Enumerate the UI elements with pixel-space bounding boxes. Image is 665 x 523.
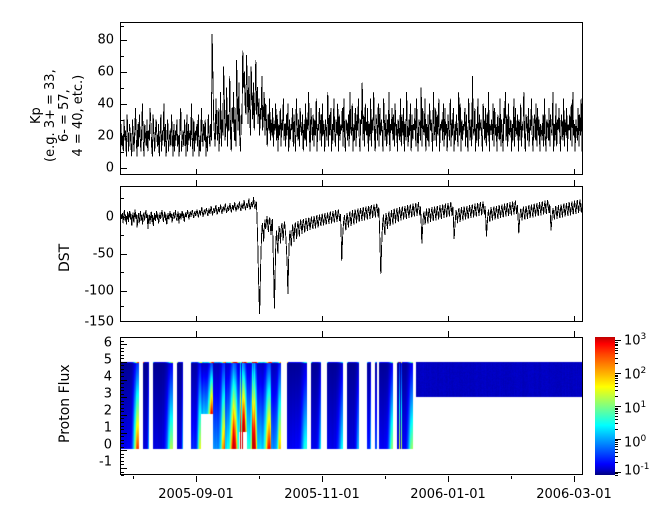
- colorbar-tick-minor: [615, 429, 618, 430]
- colorbar-tick-major: [615, 373, 621, 374]
- flux-xtick-major: [448, 331, 449, 337]
- kp-axis-title-line4: 4 = 40, etc.): [72, 69, 86, 162]
- colorbar-exp: 3: [641, 332, 647, 342]
- xtick-label-2006-03-01: 2006-03-01: [536, 488, 612, 501]
- colorbar-label-1em1: 10-1 10-1: [624, 465, 650, 478]
- colorbar-tick-minor: [615, 440, 618, 441]
- flux-ytick-minor: [121, 436, 124, 437]
- kp-xtick-major: [448, 169, 449, 175]
- flux-ytick-major: [121, 397, 127, 398]
- kp-xtick-major: [322, 169, 323, 175]
- kp-ytick-major: [121, 136, 127, 137]
- colorbar-tick-minor: [615, 342, 618, 343]
- flux-ytick-minor: [121, 401, 124, 402]
- colorbar-tick-minor: [615, 442, 618, 443]
- flux-ytick-minor: [121, 365, 124, 366]
- colorbar-tick-minor: [615, 350, 618, 351]
- colorbar-label-1e2: 102 102: [624, 369, 646, 382]
- figure-canvas: Kp (e.g. 3+ = 33, 6- = 57, 4 = 40, etc.)…: [0, 0, 665, 523]
- colorbar-tick-minor: [615, 383, 618, 384]
- colorbar-tick-minor: [615, 348, 618, 349]
- flux-ytick-minor: [121, 461, 124, 462]
- colorbar-exp: -1: [641, 462, 650, 472]
- kp-ytick-major: [121, 40, 127, 41]
- colorbar-base: 10: [624, 334, 641, 349]
- colorbar-base: 10: [624, 402, 641, 417]
- flux-ytick-minor: [121, 390, 124, 391]
- flux-ytick-minor: [121, 443, 124, 444]
- flux-xtick-major-bottom: [448, 476, 449, 482]
- dst-plot-panel: [120, 186, 583, 322]
- flux-ytick-label-4: 4: [84, 371, 112, 384]
- flux-xtick-minor-bottom: [259, 476, 260, 479]
- flux-ytick-minor: [121, 387, 124, 388]
- flux-ytick-minor: [121, 440, 124, 441]
- colorbar-tick-minor: [615, 363, 618, 364]
- flux-ytick-minor: [121, 404, 124, 405]
- colorbar-tick-minor: [615, 456, 618, 457]
- colorbar-tick-minor: [615, 378, 618, 379]
- flux-ytick-minor: [121, 369, 124, 370]
- flux-ytick-minor: [121, 348, 124, 349]
- colorbar-tick-minor: [615, 423, 618, 424]
- flux-ytick-major: [121, 380, 127, 381]
- colorbar-base: 10: [624, 464, 641, 479]
- kp-ytick-label-80: 80: [88, 34, 114, 47]
- colorbar-base: 10: [624, 368, 641, 383]
- colorbar-exp: 0: [641, 434, 647, 444]
- kp-ytick-label-40: 40: [88, 98, 114, 111]
- colorbar-tick-minor: [615, 386, 618, 387]
- colorbar-label-1e1: 101 101: [624, 403, 646, 416]
- colorbar-tick-major: [615, 439, 621, 440]
- flux-ytick-minor: [121, 372, 124, 373]
- colorbar-tick-minor: [615, 345, 618, 346]
- flux-xtick-major-bottom: [196, 476, 197, 482]
- colorbar-tick-minor: [615, 419, 618, 420]
- colorbar-tick-minor: [615, 353, 618, 354]
- dst-ytick-label-0: 0: [70, 211, 114, 224]
- colorbar-tick-minor: [615, 396, 618, 397]
- colorbar-tick-minor: [615, 375, 618, 376]
- colorbar-tick-minor: [615, 408, 618, 409]
- flux-ytick-major: [121, 468, 127, 469]
- flux-ytick-minor: [121, 418, 124, 419]
- dst-xtick-major: [574, 316, 575, 322]
- kp-ytick-label-20: 20: [88, 130, 114, 143]
- flux-ytick-label-3: 3: [84, 388, 112, 401]
- flux-ytick-major: [121, 362, 127, 363]
- flux-ytick-minor: [121, 454, 124, 455]
- xtick-label-2005-11-01: 2005-11-01: [284, 488, 360, 501]
- dst-ytick-minor: [121, 235, 124, 236]
- colorbar-tick-minor: [615, 411, 618, 412]
- colorbar-tick-minor: [615, 475, 618, 476]
- flux-ytick-minor: [121, 472, 124, 473]
- colorbar-tick-minor: [615, 452, 618, 453]
- colorbar-tick-minor: [615, 358, 618, 359]
- kp-xtick-major: [196, 169, 197, 175]
- flux-ytick-minor: [121, 447, 124, 448]
- dst-xtick-major: [574, 180, 575, 186]
- dst-ytick-minor: [121, 306, 124, 307]
- colorbar-tick-minor: [615, 462, 618, 463]
- kp-ytick-minor: [121, 56, 124, 57]
- colorbar-tick-major: [615, 340, 621, 341]
- flux-ytick-minor: [121, 422, 124, 423]
- kp-ytick-major: [121, 104, 127, 105]
- flux-ytick-minor: [121, 351, 124, 352]
- dst-ytick-label-m100: -100: [70, 285, 114, 298]
- colorbar-tick-minor: [615, 446, 618, 447]
- dst-xtick-major: [448, 316, 449, 322]
- colorbar-tick-minor: [615, 390, 618, 391]
- colorbar-label-1e0: 100 100: [624, 437, 646, 450]
- kp-plot-panel: [120, 22, 583, 175]
- colorbar-tick-minor: [615, 473, 618, 474]
- colorbar-tick-minor: [615, 380, 618, 381]
- dst-xtick-major: [196, 180, 197, 186]
- flux-xtick-major-bottom: [574, 476, 575, 482]
- kp-ytick-minor: [121, 26, 124, 27]
- flux-xtick-major-bottom: [322, 476, 323, 482]
- flux-ytick-minor: [121, 464, 124, 465]
- dst-ytick-major: [121, 254, 127, 255]
- kp-ytick-label-0: 0: [88, 162, 114, 175]
- kp-axis-title-line2: (e.g. 3+ = 33,: [44, 69, 58, 162]
- colorbar-tick-minor: [615, 376, 618, 377]
- flux-ytick-label-0: 0: [84, 439, 112, 452]
- proton-flux-plot-panel: [120, 337, 583, 475]
- colorbar-tick-minor: [615, 344, 618, 345]
- kp-ytick-major: [121, 72, 127, 73]
- dst-ytick-major: [121, 291, 127, 292]
- kp-ytick-minor: [121, 152, 124, 153]
- flux-xtick-minor-bottom: [511, 476, 512, 479]
- flux-ytick-minor: [121, 475, 124, 476]
- flux-ytick-minor: [121, 394, 124, 395]
- colorbar: [595, 337, 615, 475]
- colorbar-tick-minor: [615, 409, 618, 410]
- colorbar-exp: 2: [641, 366, 647, 376]
- dst-ytick-label-m50: -50: [70, 248, 114, 261]
- flux-ytick-minor: [121, 355, 124, 356]
- flux-ytick-minor: [121, 383, 124, 384]
- dst-ytick-major: [121, 321, 127, 322]
- flux-xtick-minor-bottom: [385, 476, 386, 479]
- flux-ytick-label-6: 6: [84, 337, 112, 350]
- flux-ytick-major: [121, 433, 127, 434]
- flux-xtick-minor-bottom: [133, 476, 134, 479]
- xtick-label-2005-09-01: 2005-09-01: [158, 488, 234, 501]
- proton-flux-axis-title: Proton Flux: [58, 364, 73, 443]
- flux-ytick-major: [121, 415, 127, 416]
- flux-xtick-major: [196, 331, 197, 337]
- flux-ytick-minor: [121, 411, 124, 412]
- flux-ytick-minor: [121, 337, 124, 338]
- flux-ytick-minor: [121, 376, 124, 377]
- flux-ytick-minor: [121, 341, 124, 342]
- dst-ytick-label-m150: -150: [70, 316, 114, 329]
- proton-flux-heatmap: [121, 338, 582, 474]
- colorbar-tick-minor: [615, 413, 618, 414]
- flux-ytick-major: [121, 344, 127, 345]
- colorbar-tick-minor: [615, 449, 618, 450]
- dst-xtick-major: [322, 316, 323, 322]
- kp-ytick-minor: [121, 88, 124, 89]
- colorbar-base: 10: [624, 436, 641, 451]
- flux-ytick-minor: [121, 358, 124, 359]
- kp-ytick-label-60: 60: [88, 66, 114, 79]
- flux-ytick-label-m1: -1: [84, 456, 112, 469]
- flux-xtick-major: [574, 331, 575, 337]
- kp-ytick-minor: [121, 120, 124, 121]
- flux-ytick-label-5: 5: [84, 354, 112, 367]
- dst-xtick-major: [196, 316, 197, 322]
- flux-ytick-minor: [121, 426, 124, 427]
- flux-ytick-minor: [121, 457, 124, 458]
- kp-axis-title-line1: Kp: [30, 69, 44, 162]
- dst-ytick-minor: [121, 272, 124, 273]
- colorbar-tick-minor: [615, 416, 618, 417]
- colorbar-tick-major: [615, 406, 621, 407]
- colorbar-tick-major: [615, 472, 621, 473]
- xtick-label-2006-01-01: 2006-01-01: [410, 488, 486, 501]
- dst-ytick-minor: [121, 198, 124, 199]
- flux-ytick-major: [121, 450, 127, 451]
- dst-xtick-major: [322, 180, 323, 186]
- kp-xtick-major: [574, 169, 575, 175]
- flux-ytick-label-2: 2: [84, 405, 112, 418]
- dst-ytick-major: [121, 217, 127, 218]
- kp-axis-title: Kp (e.g. 3+ = 33, 6- = 57, 4 = 40, etc.): [30, 69, 86, 162]
- kp-axis-title-line3: 6- = 57,: [58, 69, 72, 162]
- dst-xtick-major: [448, 180, 449, 186]
- flux-ytick-label-1: 1: [84, 422, 112, 435]
- flux-xtick-major: [322, 331, 323, 337]
- colorbar-tick-minor: [615, 444, 618, 445]
- kp-ytick-major: [121, 168, 127, 169]
- colorbar-exp: 1: [641, 400, 647, 410]
- flux-ytick-minor: [121, 429, 124, 430]
- flux-ytick-minor: [121, 408, 124, 409]
- colorbar-label-1e3: 103 103: [624, 335, 646, 348]
